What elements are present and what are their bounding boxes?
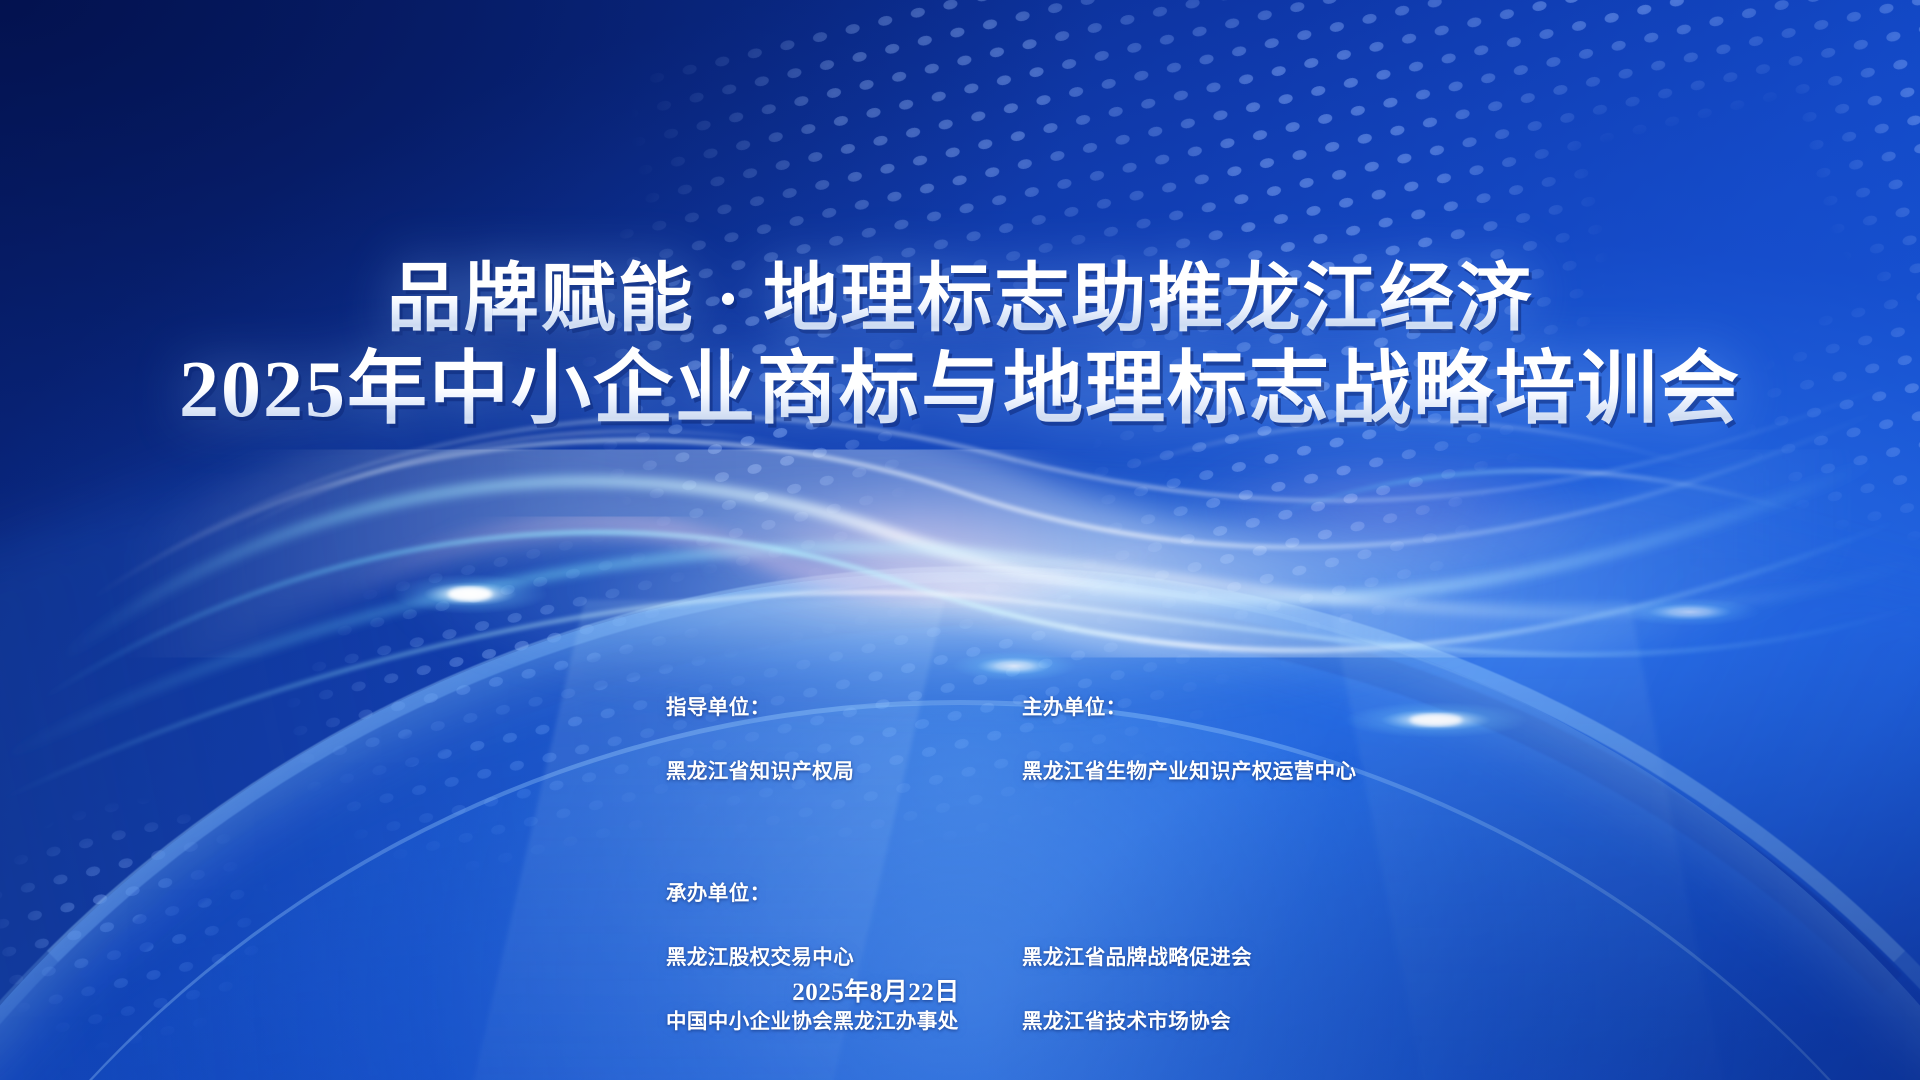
organizer-unit-right-1: 黑龙江省品牌战略促进会 bbox=[1022, 940, 1356, 970]
host-label: 主办单位： bbox=[1022, 690, 1356, 720]
guidance-unit-1: 黑龙江省知识产权局 bbox=[666, 754, 1022, 784]
organizer-unit-left-1: 黑龙江股权交易中心 bbox=[666, 940, 1022, 970]
poster-title: 品牌赋能 · 地理标志助推龙江经济 2025年中小企业商标与地理标志战略培训会 bbox=[0, 258, 1920, 436]
host-unit-1: 黑龙江省生物产业知识产权运营中心 bbox=[1022, 754, 1356, 784]
organizer-label-spacer bbox=[1022, 876, 1356, 906]
organizer-unit-left-2: 中国中小企业协会黑龙江办事处 bbox=[666, 1004, 1022, 1034]
org-gap-spacer-2 bbox=[1022, 818, 1356, 842]
org-gap-spacer bbox=[666, 818, 1022, 842]
event-date: 2025年8月22日 bbox=[666, 972, 1086, 1008]
title-line-2: 2025年中小企业商标与地理标志战略培训会 bbox=[0, 346, 1920, 436]
title-line-1: 品牌赋能 · 地理标志助推龙江经济 bbox=[0, 258, 1920, 342]
poster-canvas: 品牌赋能 · 地理标志助推龙江经济 2025年中小企业商标与地理标志战略培训会 … bbox=[0, 0, 1920, 1080]
organizer-label: 承办单位： bbox=[666, 876, 1022, 906]
organizer-unit-right-2: 黑龙江省技术市场协会 bbox=[1022, 1004, 1356, 1034]
guidance-label: 指导单位： bbox=[666, 690, 1022, 720]
